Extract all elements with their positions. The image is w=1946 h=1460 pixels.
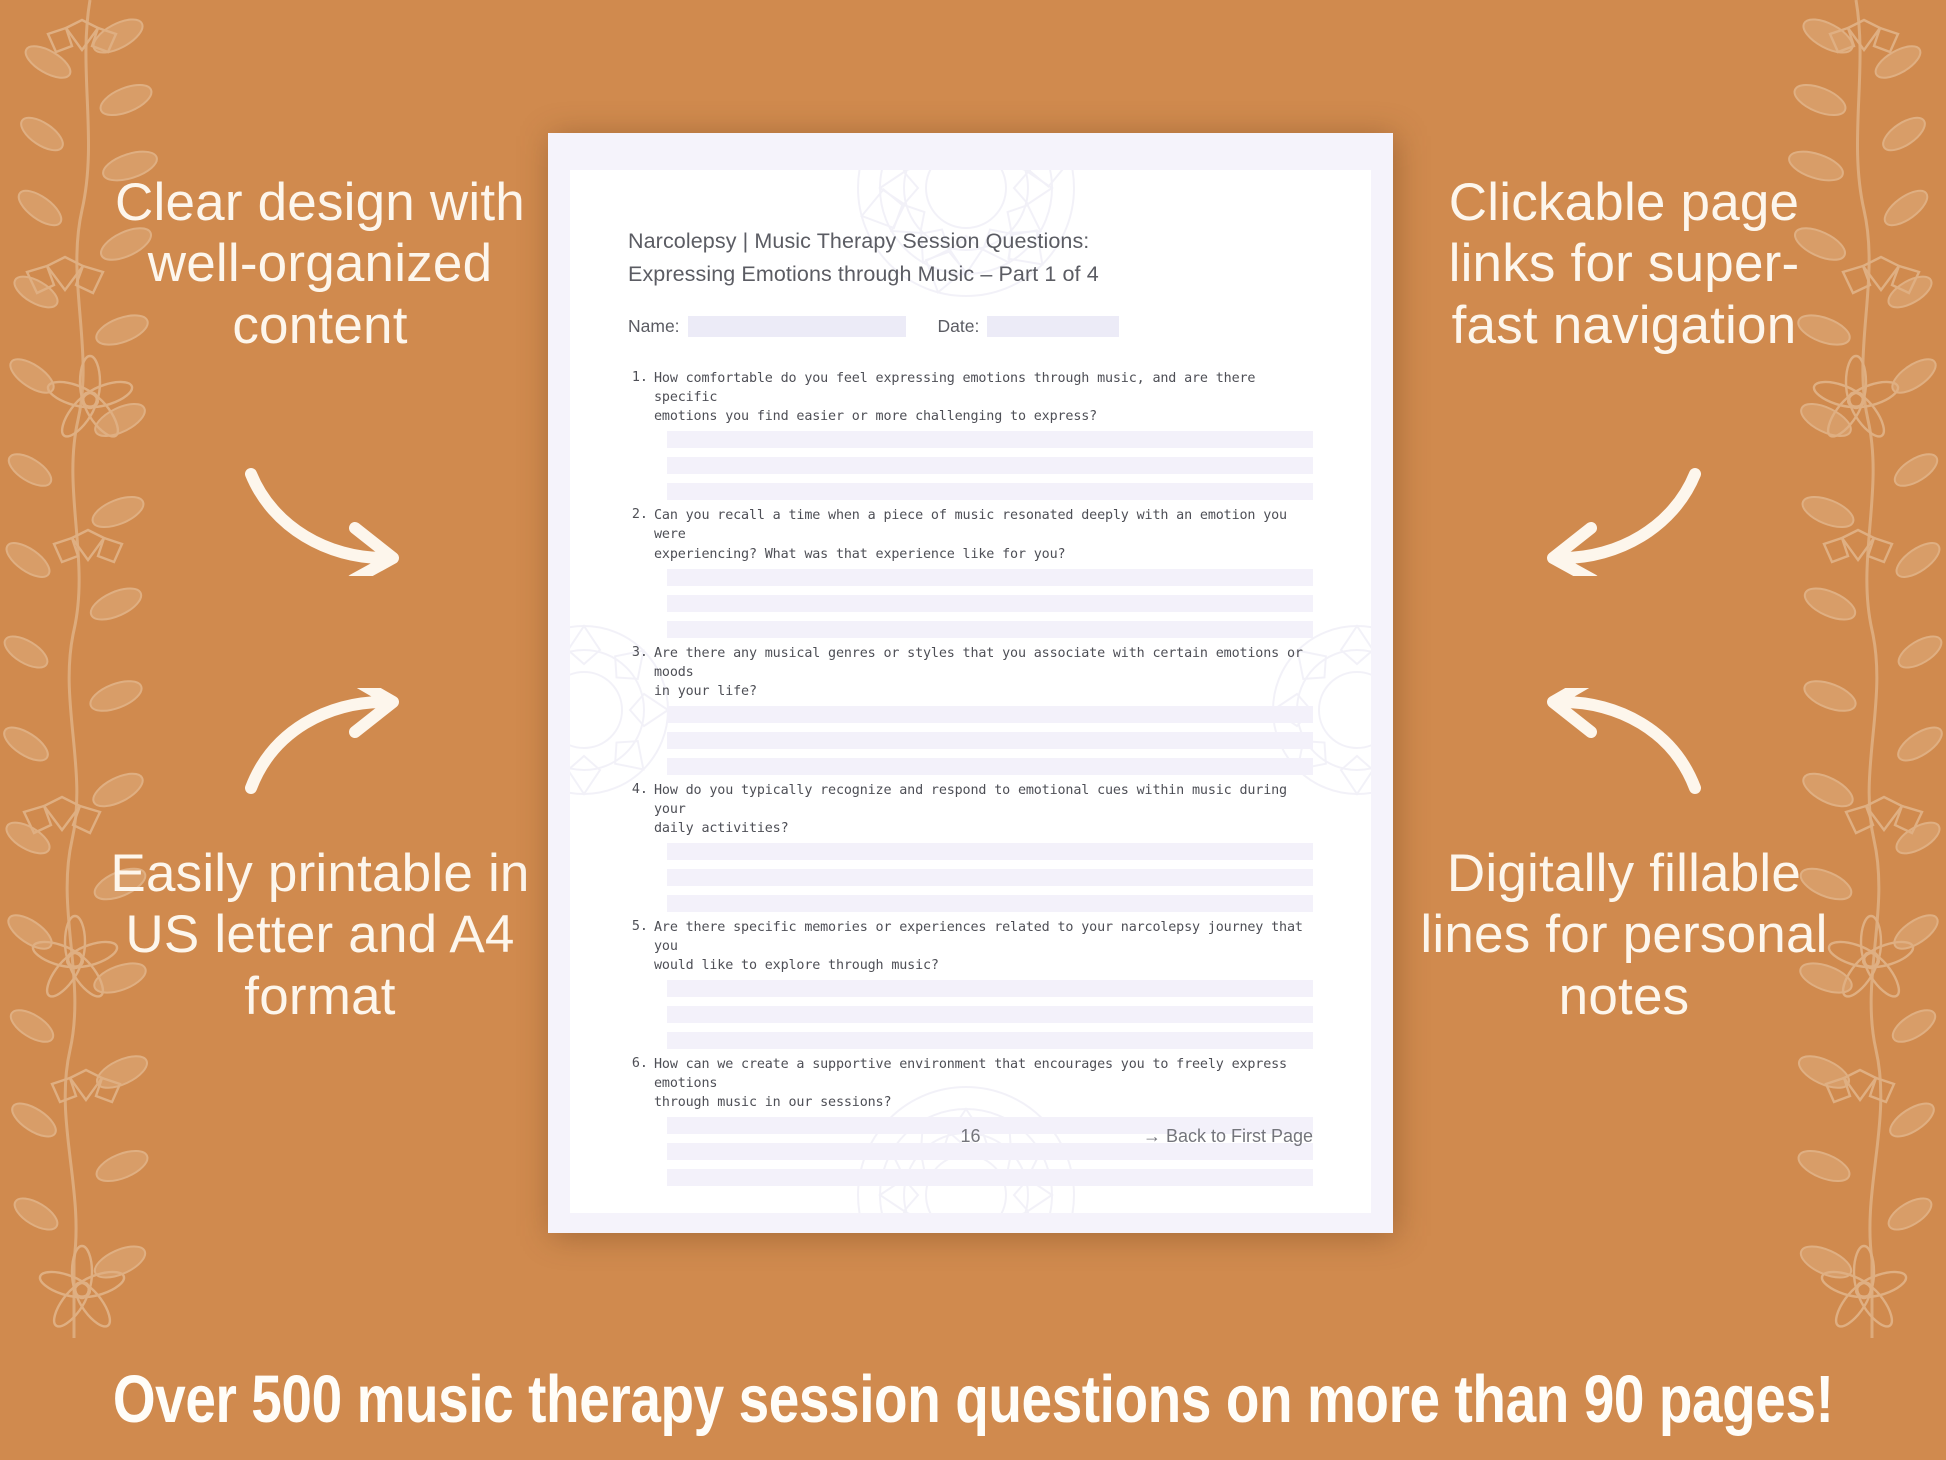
worksheet-footer: 16 → Back to First Page — [628, 1126, 1313, 1147]
curved-arrow-up-left-icon — [1533, 688, 1703, 798]
answer-line[interactable] — [667, 758, 1313, 775]
answer-line[interactable] — [667, 706, 1313, 723]
answer-line[interactable] — [667, 843, 1313, 860]
question-number: 5. — [628, 918, 648, 1049]
question-item: 4.How do you typically recognize and res… — [628, 781, 1313, 912]
name-date-row: Name: Date: — [628, 316, 1313, 337]
question-item: 1.How comfortable do you feel expressing… — [628, 369, 1313, 500]
question-body: How comfortable do you feel expressing e… — [654, 369, 1313, 500]
worksheet-title-line-2: Expressing Emotions through Music – Part… — [628, 258, 1313, 291]
worksheet-content-area: Narcolepsy | Music Therapy Session Quest… — [570, 170, 1371, 1213]
curved-arrow-down-right-icon — [243, 466, 413, 576]
answer-line[interactable] — [667, 1169, 1313, 1186]
answer-line[interactable] — [667, 1006, 1313, 1023]
question-body: Are there any musical genres or styles t… — [654, 644, 1313, 775]
question-number: 4. — [628, 781, 648, 912]
question-number: 1. — [628, 369, 648, 500]
name-label: Name: — [628, 316, 680, 337]
worksheet-title-line-1: Narcolepsy | Music Therapy Session Quest… — [628, 225, 1313, 258]
page-number: 16 — [960, 1126, 980, 1147]
question-item: 6.How can we create a supportive environ… — [628, 1055, 1313, 1186]
question-number: 6. — [628, 1055, 648, 1186]
question-text: Are there any musical genres or styles t… — [654, 644, 1313, 701]
curved-arrow-up-right-icon — [243, 688, 413, 798]
question-text: How can we create a supportive environme… — [654, 1055, 1313, 1112]
answer-line[interactable] — [667, 732, 1313, 749]
answer-line[interactable] — [667, 895, 1313, 912]
banner-text: Over 500 music therapy session questions… — [113, 1361, 1834, 1438]
question-text: Are there specific memories or experienc… — [654, 918, 1313, 975]
curved-arrow-down-left-icon — [1533, 466, 1703, 576]
answer-lines — [654, 843, 1313, 912]
date-input[interactable] — [987, 316, 1119, 337]
promo-fillable-lines: Digitally fillable lines for personal no… — [1414, 843, 1834, 1027]
date-label: Date: — [938, 316, 980, 337]
answer-line[interactable] — [667, 980, 1313, 997]
question-text: How do you typically recognize and respo… — [654, 781, 1313, 838]
answer-line[interactable] — [667, 457, 1313, 474]
question-text: Can you recall a time when a piece of mu… — [654, 506, 1313, 563]
answer-line[interactable] — [667, 595, 1313, 612]
answer-line[interactable] — [667, 869, 1313, 886]
question-body: Can you recall a time when a piece of mu… — [654, 506, 1313, 637]
question-text: How comfortable do you feel expressing e… — [654, 369, 1313, 426]
promo-clear-design: Clear design with well-organized content — [110, 172, 530, 356]
promo-easily-printable: Easily printable in US letter and A4 for… — [110, 843, 530, 1027]
question-item: 2.Can you recall a time when a piece of … — [628, 506, 1313, 637]
worksheet-page: Narcolepsy | Music Therapy Session Quest… — [548, 133, 1393, 1233]
question-body: Are there specific memories or experienc… — [654, 918, 1313, 1049]
answer-lines — [654, 431, 1313, 500]
question-item: 3.Are there any musical genres or styles… — [628, 644, 1313, 775]
bottom-banner: Over 500 music therapy session questions… — [0, 1338, 1946, 1460]
question-number: 3. — [628, 644, 648, 775]
answer-line[interactable] — [667, 483, 1313, 500]
back-to-first-page-link[interactable]: → Back to First Page — [1143, 1126, 1313, 1147]
promo-clickable-links: Clickable page links for super-fast navi… — [1414, 172, 1834, 356]
answer-line[interactable] — [667, 1032, 1313, 1049]
answer-lines — [654, 569, 1313, 638]
answer-lines — [654, 980, 1313, 1049]
worksheet-body: Narcolepsy | Music Therapy Session Quest… — [570, 170, 1371, 1213]
answer-line[interactable] — [667, 621, 1313, 638]
question-number: 2. — [628, 506, 648, 637]
answer-lines — [654, 706, 1313, 775]
question-item: 5.Are there specific memories or experie… — [628, 918, 1313, 1049]
answer-line[interactable] — [667, 431, 1313, 448]
question-body: How do you typically recognize and respo… — [654, 781, 1313, 912]
answer-line[interactable] — [667, 569, 1313, 586]
question-list: 1.How comfortable do you feel expressing… — [628, 369, 1313, 1186]
question-body: How can we create a supportive environme… — [654, 1055, 1313, 1186]
name-input[interactable] — [688, 316, 906, 337]
